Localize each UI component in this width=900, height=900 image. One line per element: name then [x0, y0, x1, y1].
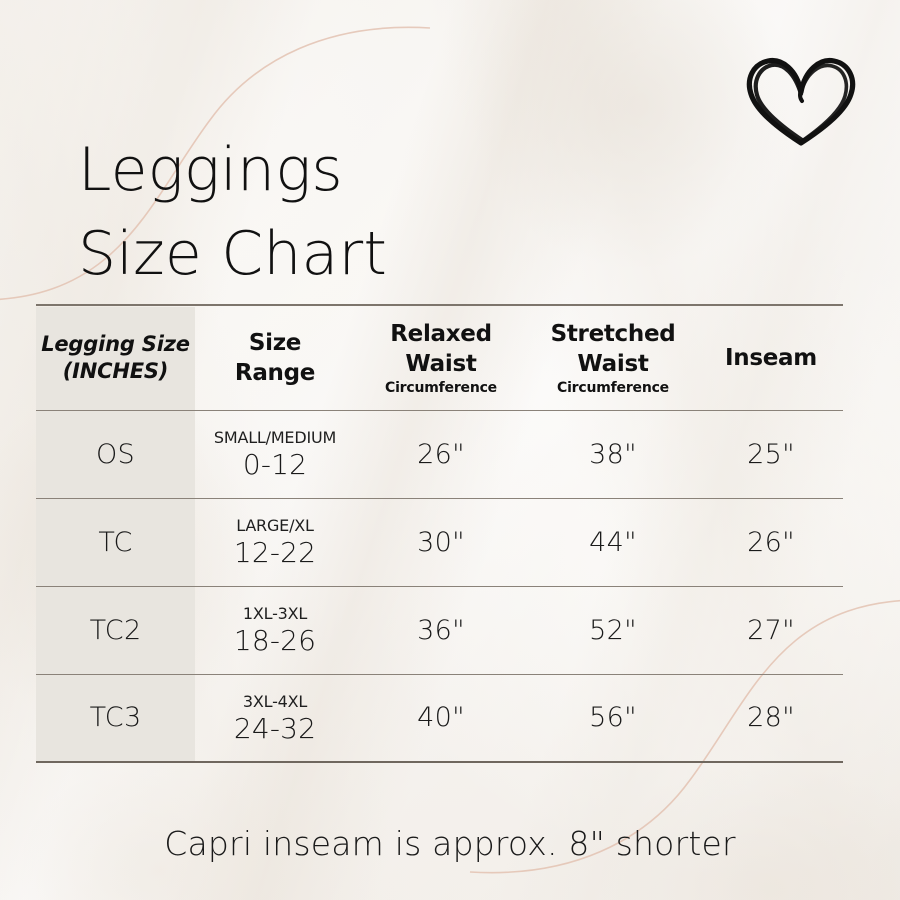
cell-size-range-value: 18-26	[195, 624, 355, 657]
column-header-stretched-waist-line-1: Stretched	[527, 319, 699, 349]
cell-relaxed-waist: 40"	[355, 674, 527, 762]
column-header-relaxed-waist: Relaxed Waist Circumference	[355, 305, 527, 410]
cell-stretched-waist: 56"	[527, 674, 699, 762]
heart-icon	[742, 52, 860, 148]
cell-stretched-waist: 44"	[527, 498, 699, 586]
cell-size-range: LARGE/XL 12-22	[195, 498, 355, 586]
size-chart-table-container: Legging Size (INCHES) Size Range Relaxed…	[36, 304, 843, 763]
cell-legging-size: TC3	[36, 674, 195, 762]
table-row: TC2 1XL-3XL 18-26 36" 52" 27"	[36, 586, 843, 674]
page-title-line-1: Leggings	[78, 128, 698, 212]
cell-relaxed-waist: 26"	[355, 410, 527, 498]
cell-legging-size: TC2	[36, 586, 195, 674]
column-header-size-range: Size Range	[195, 305, 355, 410]
footer-note: Capri inseam is approx. 8" shorter	[0, 824, 900, 863]
cell-stretched-waist: 38"	[527, 410, 699, 498]
column-header-legging-size: Legging Size (INCHES)	[36, 305, 195, 410]
cell-size-range-value: 24-32	[195, 712, 355, 745]
cell-size-range-label: 3XL-4XL	[195, 691, 355, 712]
column-header-relaxed-waist-subtitle: Circumference	[355, 379, 527, 397]
size-chart-canvas: Leggings Size Chart Legging Size (INCHES…	[0, 0, 900, 900]
cell-size-range-value: 0-12	[195, 448, 355, 481]
cell-size-range: SMALL/MEDIUM 0-12	[195, 410, 355, 498]
cell-size-range-label: LARGE/XL	[195, 515, 355, 536]
cell-relaxed-waist: 30"	[355, 498, 527, 586]
column-header-inseam: Inseam	[699, 305, 843, 410]
table-row: OS SMALL/MEDIUM 0-12 26" 38" 25"	[36, 410, 843, 498]
size-chart-table: Legging Size (INCHES) Size Range Relaxed…	[36, 304, 843, 763]
column-header-stretched-waist-line-2: Waist	[527, 349, 699, 379]
column-header-relaxed-waist-line-1: Relaxed	[355, 319, 527, 349]
column-header-legging-size-line-1: Legging Size	[36, 331, 195, 358]
cell-inseam: 26"	[699, 498, 843, 586]
table-header-row: Legging Size (INCHES) Size Range Relaxed…	[36, 305, 843, 410]
cell-legging-size: TC	[36, 498, 195, 586]
page-title: Leggings Size Chart	[78, 128, 698, 296]
column-header-inseam-label: Inseam	[699, 344, 843, 372]
cell-inseam: 28"	[699, 674, 843, 762]
cell-size-range-label: 1XL-3XL	[195, 603, 355, 624]
page-title-line-2: Size Chart	[78, 212, 698, 296]
cell-size-range: 3XL-4XL 24-32	[195, 674, 355, 762]
cell-inseam: 27"	[699, 586, 843, 674]
table-row: TC3 3XL-4XL 24-32 40" 56" 28"	[36, 674, 843, 762]
column-header-stretched-waist-subtitle: Circumference	[527, 379, 699, 397]
cell-legging-size: OS	[36, 410, 195, 498]
cell-relaxed-waist: 36"	[355, 586, 527, 674]
cell-stretched-waist: 52"	[527, 586, 699, 674]
cell-size-range-value: 12-22	[195, 536, 355, 569]
table-row: TC LARGE/XL 12-22 30" 44" 26"	[36, 498, 843, 586]
table-header: Legging Size (INCHES) Size Range Relaxed…	[36, 305, 843, 410]
cell-inseam: 25"	[699, 410, 843, 498]
column-header-relaxed-waist-line-2: Waist	[355, 349, 527, 379]
cell-size-range-label: SMALL/MEDIUM	[195, 427, 355, 448]
cell-size-range: 1XL-3XL 18-26	[195, 586, 355, 674]
column-header-size-range-line-2: Range	[195, 358, 355, 388]
table-body: OS SMALL/MEDIUM 0-12 26" 38" 25" TC LARG…	[36, 410, 843, 762]
column-header-legging-size-line-2: (INCHES)	[36, 358, 195, 385]
column-header-size-range-line-1: Size	[195, 328, 355, 358]
column-header-stretched-waist: Stretched Waist Circumference	[527, 305, 699, 410]
